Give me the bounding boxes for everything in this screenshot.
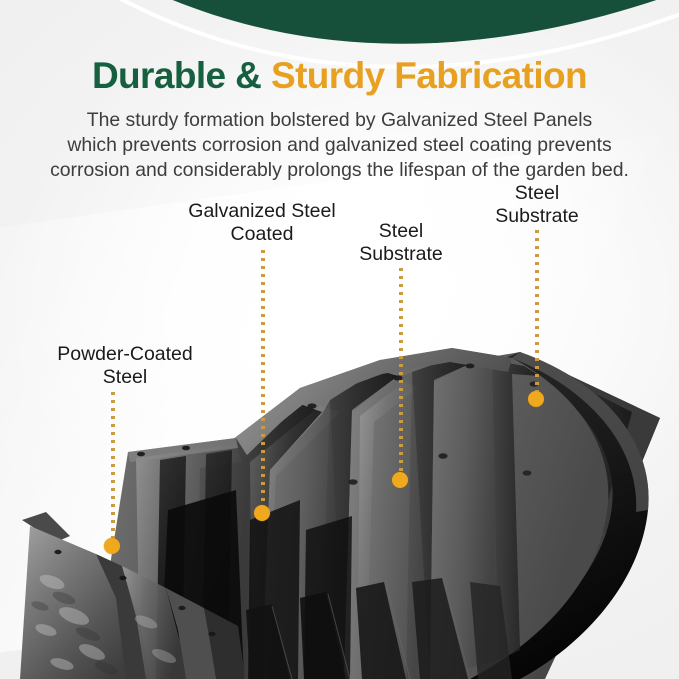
leader-line-galvanized-steel-coated	[261, 250, 265, 510]
callout-label-powder-coated-steel: Powder-Coated Steel	[25, 343, 225, 389]
leader-dot-steel-substrate-center	[392, 472, 408, 488]
leader-line-powder-coated-steel	[111, 392, 115, 544]
description-text: The sturdy formation bolstered by Galvan…	[8, 108, 671, 183]
description-line-3: corrosion and considerably prolongs the …	[8, 158, 671, 183]
callout-label-steel-substrate-right: Steel Substrate	[452, 182, 622, 228]
page-title-orange-part: Sturdy Fabrication	[271, 55, 587, 96]
page-title: Durable & Sturdy Fabrication	[0, 57, 679, 96]
leader-dot-galvanized-steel-coated	[254, 505, 270, 521]
leader-line-steel-substrate-center	[399, 268, 403, 476]
leader-dot-steel-substrate-right	[528, 391, 544, 407]
leader-dot-powder-coated-steel	[104, 538, 120, 554]
page-title-green-part: Durable &	[92, 55, 271, 96]
product-infographic: Durable & Sturdy Fabrication The sturdy …	[0, 0, 679, 679]
description-line-1: The sturdy formation bolstered by Galvan…	[8, 108, 671, 133]
description-line-2: which prevents corrosion and galvanized …	[8, 133, 671, 158]
leader-line-steel-substrate-right	[535, 230, 539, 394]
background-wash	[0, 0, 679, 679]
